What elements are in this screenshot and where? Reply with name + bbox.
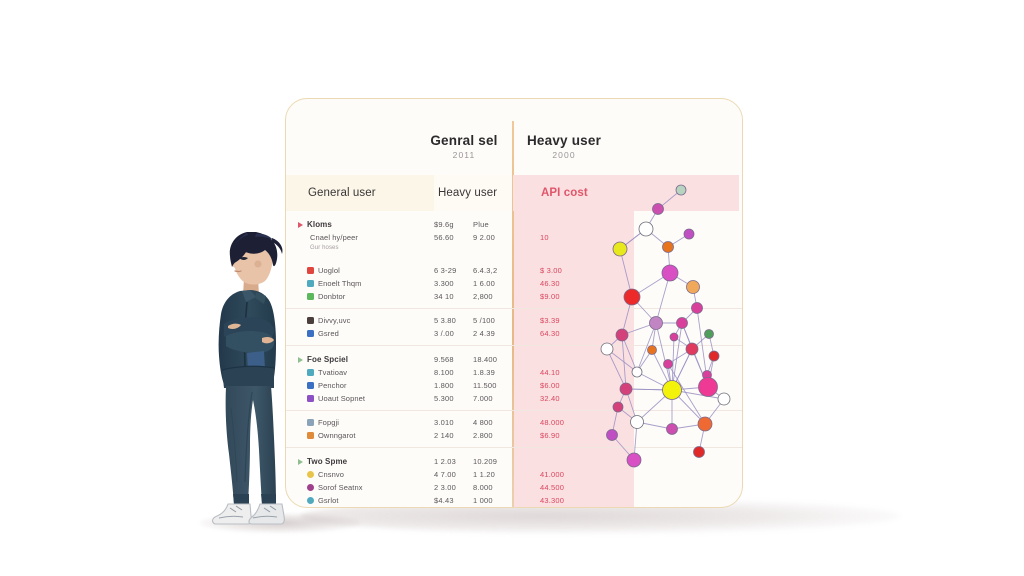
dot-icon xyxy=(307,484,314,491)
general-user-value: 9.568 xyxy=(434,355,473,364)
row-label-cell: Tvatioav xyxy=(286,368,434,377)
row-label-cell: Gsrlot xyxy=(286,496,434,505)
triangle-marker-icon xyxy=(298,357,303,363)
row-label-cell: Penchor xyxy=(286,381,434,390)
graph-node[interactable] xyxy=(718,393,730,405)
heavy-user-value: 1 000 xyxy=(473,496,512,505)
graph-node[interactable] xyxy=(663,381,682,400)
app-tile-icon xyxy=(307,432,314,439)
app-tile-icon xyxy=(307,293,314,300)
api-cost-value: 44.10 xyxy=(512,368,633,377)
heavy-user-value: 1 6.00 xyxy=(473,279,512,288)
app-tile-icon xyxy=(307,369,314,376)
general-user-value: 8.100 xyxy=(434,368,473,377)
row-label-cell: Two Spme xyxy=(286,457,434,466)
graph-node[interactable] xyxy=(692,303,703,314)
graph-node[interactable] xyxy=(663,242,674,253)
supertitle-heavy-sub: 2000 xyxy=(514,150,614,160)
row-label-cell: Enoelt Thqm xyxy=(286,279,434,288)
api-cost-value: 10 xyxy=(512,233,633,242)
general-user-value: 34 10 xyxy=(434,292,473,301)
graph-node[interactable] xyxy=(648,346,657,355)
api-cost-value: $6.00 xyxy=(512,381,633,390)
row-label-text: Gsred xyxy=(318,329,339,338)
row-label-text: Penchor xyxy=(318,381,347,390)
graph-node[interactable] xyxy=(639,222,653,236)
graph-node[interactable] xyxy=(677,318,688,329)
heavy-user-value: 2,800 xyxy=(473,292,512,301)
graph-node[interactable] xyxy=(694,447,705,458)
row-label-text: Ownngarot xyxy=(318,431,356,440)
row-label-cell: Fopgji xyxy=(286,418,434,427)
general-user-value: 56.60 xyxy=(434,233,473,242)
column-header-general-user: General user xyxy=(286,175,434,211)
graph-node[interactable] xyxy=(684,229,694,239)
general-user-value: 5 3.80 xyxy=(434,316,473,325)
row-label-cell: Kloms xyxy=(286,220,434,229)
general-user-value: $9.6g xyxy=(434,220,473,229)
heavy-user-value: 4 800 xyxy=(473,418,512,427)
triangle-marker-icon xyxy=(298,459,303,465)
graph-node[interactable] xyxy=(613,242,627,256)
row-label-cell: Cnael hy/peer xyxy=(286,233,434,242)
app-tile-icon xyxy=(307,395,314,402)
row-label-text: Uoglol xyxy=(318,266,340,275)
api-cost-value: 44.500 xyxy=(512,483,633,492)
row-label-text: Cnael hy/peer xyxy=(310,233,358,242)
graph-node[interactable] xyxy=(601,343,613,355)
heavy-user-value: 18.400 xyxy=(473,355,512,364)
app-tile-icon xyxy=(307,267,314,274)
graph-node[interactable] xyxy=(686,343,698,355)
graph-node[interactable] xyxy=(709,351,719,361)
api-cost-value: 64.30 xyxy=(512,329,633,338)
row-label-text: Foe Spciel xyxy=(307,355,348,364)
heavy-user-value: 1 1.20 xyxy=(473,470,512,479)
row-label-text: Fopgji xyxy=(318,418,339,427)
row-label-cell: Divvy,uvc xyxy=(286,316,434,325)
supertitle-heavy-label: Heavy user xyxy=(514,133,614,148)
row-label-text: Cnsnvo xyxy=(318,470,344,479)
heavy-user-value: 9 2.00 xyxy=(473,233,512,242)
general-user-value: 3 /.00 xyxy=(434,329,473,338)
illustration-scene: Genral sel 2011 Heavy user 2000 General … xyxy=(0,0,1024,576)
app-tile-icon xyxy=(307,382,314,389)
general-user-value: 1.800 xyxy=(434,381,473,390)
graph-node[interactable] xyxy=(687,281,700,294)
row-label-cell: Donbtor xyxy=(286,292,434,301)
heavy-user-value: 2 4.39 xyxy=(473,329,512,338)
row-label-text: Tvatioav xyxy=(318,368,347,377)
heavy-user-value: 5 /100 xyxy=(473,316,512,325)
heavy-user-value: Plue xyxy=(473,220,512,229)
row-label-text: Uoaut Sopnet xyxy=(318,394,365,403)
dot-icon xyxy=(307,471,314,478)
heavy-user-value: 6.4.3,2 xyxy=(473,266,512,275)
api-cost-value: 43.300 xyxy=(512,496,633,505)
app-tile-icon xyxy=(307,330,314,337)
graph-node[interactable] xyxy=(670,333,678,341)
api-cost-value: $3.39 xyxy=(512,316,633,325)
dot-icon xyxy=(307,497,314,504)
general-user-value: 3.010 xyxy=(434,418,473,427)
row-label-text: Kloms xyxy=(307,220,332,229)
supertitle-heavy-user: Heavy user 2000 xyxy=(514,133,614,160)
graph-node[interactable] xyxy=(705,330,714,339)
graph-node[interactable] xyxy=(699,378,718,397)
column-header-heavy-user: Heavy user xyxy=(434,175,512,211)
api-cost-value: $ 3.00 xyxy=(512,266,633,275)
api-cost-value: 46.30 xyxy=(512,279,633,288)
general-user-value: 4 7.00 xyxy=(434,470,473,479)
row-label-cell: Ownngarot xyxy=(286,431,434,440)
comparison-card: Genral sel 2011 Heavy user 2000 General … xyxy=(285,98,743,508)
row-label-text: Divvy,uvc xyxy=(318,316,350,325)
row-label-text: Donbtor xyxy=(318,292,345,301)
network-graph xyxy=(604,161,736,493)
heavy-user-value: 7.000 xyxy=(473,394,512,403)
table-row[interactable]: Gsrlot$4.431 00043.300 xyxy=(286,494,742,507)
supertitle-general-sub: 2011 xyxy=(414,150,514,160)
row-label-cell: Sorof Seatnx xyxy=(286,483,434,492)
general-user-value: 3.300 xyxy=(434,279,473,288)
row-label-cell: Foe Spciel xyxy=(286,355,434,364)
triangle-marker-icon xyxy=(298,222,303,228)
api-cost-value: $6.90 xyxy=(512,431,633,440)
graph-node[interactable] xyxy=(667,424,678,435)
api-cost-value: 48.000 xyxy=(512,418,633,427)
api-cost-value: 41.000 xyxy=(512,470,633,479)
general-user-value: 1 2.03 xyxy=(434,457,473,466)
row-label-cell: Cnsnvo xyxy=(286,470,434,479)
row-label-cell: Uoaut Sopnet xyxy=(286,394,434,403)
general-user-value: 2 3.00 xyxy=(434,483,473,492)
row-label-cell: Gsred xyxy=(286,329,434,338)
row-label-text: Enoelt Thqm xyxy=(318,279,362,288)
graph-node[interactable] xyxy=(676,185,686,195)
supertitle-general-label: Genral sel xyxy=(414,133,514,148)
heavy-user-value: 2.800 xyxy=(473,431,512,440)
graph-node[interactable] xyxy=(627,453,641,467)
graph-node[interactable] xyxy=(662,265,678,281)
graph-node[interactable] xyxy=(664,360,673,369)
heavy-user-value: 10.209 xyxy=(473,457,512,466)
app-tile-icon xyxy=(307,419,314,426)
graph-node[interactable] xyxy=(698,417,712,431)
heavy-user-value: 8.000 xyxy=(473,483,512,492)
heavy-user-value: 1.8.39 xyxy=(473,368,512,377)
general-user-value: 6 3-29 xyxy=(434,266,473,275)
general-user-value: $4.43 xyxy=(434,496,473,505)
row-label-text: Gsrlot xyxy=(318,496,339,505)
api-cost-value: $9.00 xyxy=(512,292,633,301)
graph-node[interactable] xyxy=(632,367,642,377)
graph-node[interactable] xyxy=(650,317,663,330)
graph-node[interactable] xyxy=(653,204,664,215)
graph-edge xyxy=(656,323,672,390)
graph-node[interactable] xyxy=(613,402,623,412)
supertitle-general-user: Genral sel 2011 xyxy=(414,133,514,160)
table-row[interactable]: Gsaort /000153.656.00069.900 xyxy=(286,507,742,508)
general-user-value: 5.300 xyxy=(434,394,473,403)
general-user-value: 2 140 xyxy=(434,431,473,440)
row-label-text: Two Spme xyxy=(307,457,347,466)
app-tile-icon xyxy=(307,317,314,324)
standing-person-illustration xyxy=(186,232,298,528)
heavy-user-value: 11.500 xyxy=(473,381,512,390)
api-cost-value: 32.40 xyxy=(512,394,633,403)
row-label-cell: Uoglol xyxy=(286,266,434,275)
app-tile-icon xyxy=(307,280,314,287)
row-label-text: Sorof Seatnx xyxy=(318,483,363,492)
